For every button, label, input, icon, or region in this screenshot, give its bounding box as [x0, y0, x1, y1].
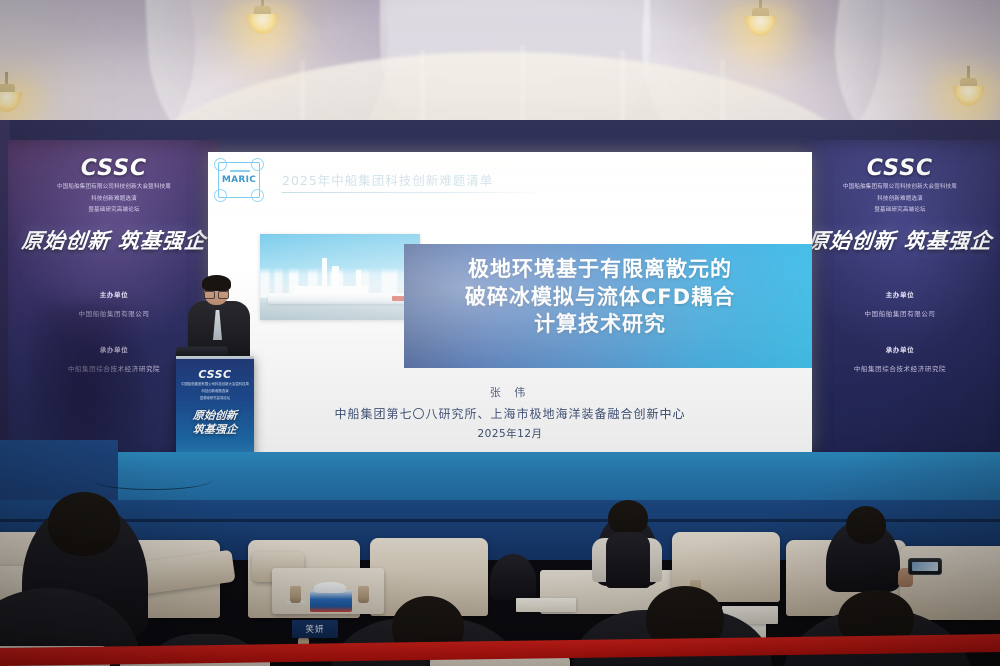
logo-corner-arc: [214, 158, 227, 171]
backdrop-slogan: 原始创新 筑基强企: [800, 225, 1000, 255]
backdrop-subtitle-3: 暨基础研究高端论坛: [8, 205, 220, 216]
maric-logo-icon: MARIC: [218, 162, 260, 198]
backdrop-subtitle-1: 中国船舶集团有限公司科技创新大会暨科技周: [800, 182, 1000, 193]
backdrop-host-label: 主办单位: [800, 289, 1000, 299]
coffee-cup: [358, 586, 369, 603]
podium-slogan-line-2: 筑基强企: [176, 423, 254, 437]
name-placard: 笑妍: [292, 620, 338, 638]
slide-title-line-1: 极地环境基于有限离散元的: [404, 256, 796, 284]
maric-logo-label: MARIC: [219, 175, 259, 185]
slide-header-title: 2025年中船集团科技创新难题清单: [282, 170, 493, 189]
river-water: [260, 302, 420, 320]
podium-subtitle-2: 科技创新难题选演: [176, 388, 254, 395]
slide-title: 极地环境基于有限离散元的 破碎冰模拟与流体CFD耦合 计算技术研究: [404, 256, 796, 339]
conference-photo-scene: CSSC 中国船舶集团有限公司科技创新大会暨科技周 科技创新难题选演 暨基础研究…: [0, 0, 1000, 666]
podium-cssc-logo: CSSC: [176, 368, 254, 381]
backdrop-slogan: 原始创新 筑基强企: [8, 225, 220, 255]
presenter-name: 张 伟: [208, 384, 812, 400]
presentation-slide: MARIC 2025年中船集团科技创新难题清单 极地环境基于有限离散元的 破碎冰…: [208, 152, 812, 452]
podium-slogan-line-1: 原始创新: [176, 409, 254, 423]
slide-title-line-3: 计算技术研究: [404, 311, 796, 339]
podium-subtitle-1: 中国船舶集团有限公司科技创新大会暨科技周: [176, 381, 254, 388]
presenter-affiliation: 中船集团第七〇八研究所、上海市极地海洋装备融合创新中心: [208, 405, 812, 422]
logo-bar: [230, 170, 250, 172]
phone-screen: [912, 562, 938, 571]
logo-corner-arc: [214, 189, 227, 202]
person-head: [846, 506, 886, 544]
logo-corner-arc: [251, 189, 264, 202]
backdrop-organizer-name: 中船集团综合技术经济研究院: [800, 363, 1000, 373]
logo-corner-arc: [251, 158, 264, 171]
backdrop-subtitle-3: 暨基础研究高端论坛: [800, 205, 1000, 216]
backdrop-subtitle-2: 科技创新难题选演: [800, 194, 1000, 205]
paper-sheet: [516, 598, 576, 612]
slide-presenter-block: 张 伟 中船集团第七〇八研究所、上海市极地海洋装备融合创新中心 2025年12月: [208, 384, 812, 441]
audience-person: [490, 554, 536, 600]
backdrop-host-name: 中国船舶集团有限公司: [800, 308, 1000, 318]
slide-title-line-2: 破碎冰模拟与流体CFD耦合: [404, 284, 796, 312]
person-head: [48, 492, 120, 556]
backdrop-subtitle-2: 科技创新难题选演: [8, 194, 220, 205]
smartphone: [908, 558, 942, 575]
backdrop-banner-right: CSSC 中国船舶集团有限公司科技创新大会暨科技周 科技创新难题选演 暨基础研究…: [800, 140, 1000, 470]
presentation-date: 2025年12月: [208, 426, 812, 441]
ship-photo: [260, 234, 420, 320]
slide-header-divider: [282, 192, 542, 193]
slide-header: MARIC 2025年中船集团科技创新难题清单: [214, 162, 802, 204]
audience-person-torso: [606, 532, 650, 588]
slide-title-band: 极地环境基于有限离散元的 破碎冰模拟与流体CFD耦合 计算技术研究: [404, 244, 812, 368]
placard-name: 笑妍: [305, 623, 324, 635]
projection-screen: MARIC 2025年中船集团科技创新难题清单 极地环境基于有限离散元的 破碎冰…: [208, 152, 812, 452]
podium-top-surface: [176, 356, 254, 359]
podium-subtitle-3: 暨基础研究高端论坛: [176, 395, 254, 402]
person-head: [608, 500, 648, 536]
tissue-sheet: [314, 582, 346, 593]
cssc-logo-text: CSSC: [8, 156, 220, 181]
backdrop-subtitle-1: 中国船舶集团有限公司科技创新大会暨科技周: [8, 182, 220, 193]
speaker-hair: [202, 275, 231, 291]
ship-superstructure: [294, 286, 368, 294]
coffee-cup: [290, 586, 301, 603]
cssc-logo-text: CSSC: [800, 156, 1000, 181]
speaker-glasses-icon: [204, 290, 229, 296]
tissue-box: [310, 590, 352, 612]
backdrop-organizer-label: 承办单位: [800, 344, 1000, 354]
